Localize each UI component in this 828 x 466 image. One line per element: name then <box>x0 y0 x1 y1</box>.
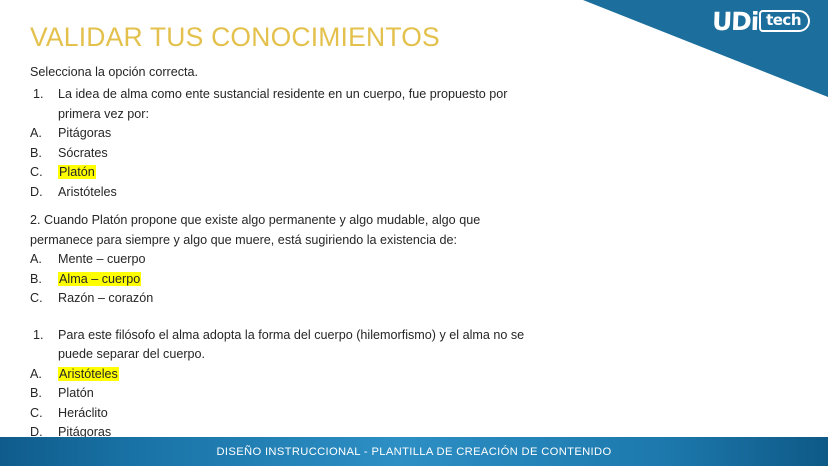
option-2-b[interactable]: B. Alma – cuerpo <box>30 270 630 290</box>
option-1-c[interactable]: C. Platón <box>30 163 630 183</box>
question-marker: 1. <box>33 326 44 346</box>
spacer <box>30 309 630 326</box>
option-3-c[interactable]: C. Heráclito <box>30 404 630 424</box>
option-label: Sócrates <box>58 146 108 160</box>
question-text-3-cont: puede separar del cuerpo. <box>30 345 630 365</box>
option-label: Pitágoras <box>58 126 111 140</box>
option-marker: D. <box>30 183 43 203</box>
option-label: Platón <box>58 386 94 400</box>
slide-canvas: UDi tech VALIDAR TUS CONOCIMIENTOS Selec… <box>0 0 828 466</box>
logo-wordmark: UDi <box>712 9 759 34</box>
option-1-a[interactable]: A. Pitágoras <box>30 124 630 144</box>
option-marker: C. <box>30 163 43 183</box>
logo-tech-badge: tech <box>759 10 810 32</box>
question-text-1: 1. La idea de alma como ente sustancial … <box>30 85 630 105</box>
question-text-3: 1. Para este filósofo el alma adopta la … <box>30 326 630 346</box>
question-block-1: 1. La idea de alma como ente sustancial … <box>30 85 630 202</box>
option-label: Aristóteles <box>58 185 117 199</box>
option-marker: B. <box>30 270 42 290</box>
option-label-highlighted: Platón <box>58 165 96 179</box>
option-marker: A. <box>30 365 42 385</box>
page-title: VALIDAR TUS CONOCIMIENTOS <box>30 22 440 53</box>
option-marker: C. <box>30 289 43 309</box>
slide-body: Selecciona la opción correcta. 1. La ide… <box>30 63 630 443</box>
question-text-1-cont: primera vez por: <box>30 105 630 125</box>
spacer <box>30 202 630 211</box>
option-marker: B. <box>30 144 42 164</box>
footer-text: DISEÑO INSTRUCCIONAL - PLANTILLA DE CREA… <box>217 446 612 458</box>
question-block-2: 2. Cuando Platón propone que existe algo… <box>30 211 630 309</box>
question-line: Para este filósofo el alma adopta la for… <box>58 328 524 342</box>
option-2-c[interactable]: C. Razón – corazón <box>30 289 630 309</box>
question-text-2: 2. Cuando Platón propone que existe algo… <box>30 211 630 231</box>
footer-ribbon: DISEÑO INSTRUCCIONAL - PLANTILLA DE CREA… <box>0 437 828 466</box>
option-marker: B. <box>30 384 42 404</box>
option-label: Mente – cuerpo <box>58 252 146 266</box>
question-text-2-cont: permanece para siempre y algo que muere,… <box>30 231 630 251</box>
instruction-text: Selecciona la opción correcta. <box>30 63 630 82</box>
question-line: La idea de alma como ente sustancial res… <box>58 87 507 101</box>
option-marker: C. <box>30 404 43 424</box>
option-label: Razón – corazón <box>58 291 153 305</box>
brand-logo: UDi tech <box>712 8 810 34</box>
option-1-b[interactable]: B. Sócrates <box>30 144 630 164</box>
option-label: Heráclito <box>58 406 108 420</box>
option-marker: A. <box>30 250 42 270</box>
option-2-a[interactable]: A. Mente – cuerpo <box>30 250 630 270</box>
option-3-b[interactable]: B. Platón <box>30 384 630 404</box>
question-line: puede separar del cuerpo. <box>58 347 205 361</box>
option-3-a[interactable]: A. Aristóteles <box>30 365 630 385</box>
option-marker: A. <box>30 124 42 144</box>
question-block-3: 1. Para este filósofo el alma adopta la … <box>30 326 630 443</box>
question-line: primera vez por: <box>58 107 149 121</box>
option-label-highlighted: Alma – cuerpo <box>58 272 141 286</box>
option-label-highlighted: Aristóteles <box>58 367 119 381</box>
question-marker: 1. <box>33 85 44 105</box>
option-1-d[interactable]: D. Aristóteles <box>30 183 630 203</box>
